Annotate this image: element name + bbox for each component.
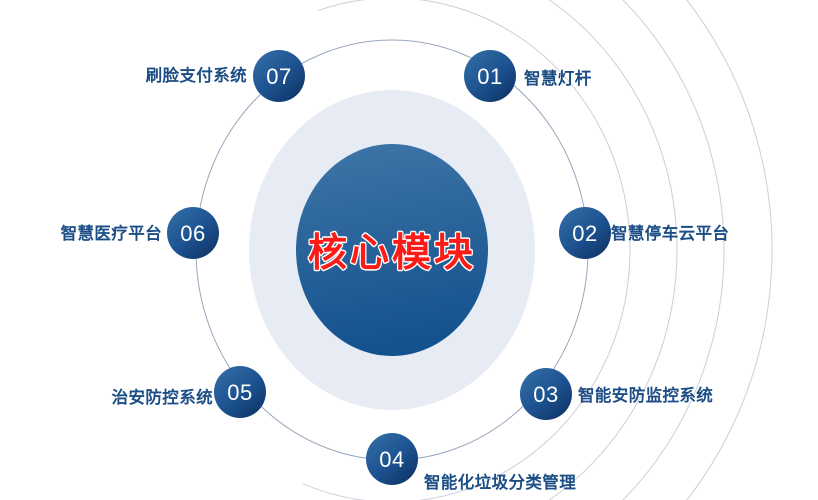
node-02[interactable]: 02 bbox=[559, 207, 611, 259]
node-label-02: 智慧停车云平台 bbox=[611, 226, 729, 243]
node-number-02: 02 bbox=[572, 221, 597, 246]
node-number-01: 01 bbox=[477, 64, 502, 89]
node-05[interactable]: 05 bbox=[214, 366, 266, 418]
node-number-06: 06 bbox=[180, 221, 205, 246]
node-03[interactable]: 03 bbox=[520, 368, 572, 420]
node-label-07: 刷脸支付系统 bbox=[146, 68, 247, 85]
node-04[interactable]: 04 bbox=[366, 433, 418, 485]
node-label-01: 智慧灯杆 bbox=[524, 71, 592, 88]
node-label-05: 治安防控系统 bbox=[112, 390, 213, 407]
node-01[interactable]: 01 bbox=[464, 50, 516, 102]
node-label-06: 智慧医疗平台 bbox=[61, 226, 162, 243]
node-label-03: 智能安防监控系统 bbox=[578, 388, 713, 405]
node-number-03: 03 bbox=[533, 382, 558, 407]
node-number-07: 07 bbox=[266, 64, 291, 89]
node-number-04: 04 bbox=[379, 447, 404, 472]
center-title: 核心模块 bbox=[308, 222, 476, 278]
node-07[interactable]: 07 bbox=[253, 50, 305, 102]
node-06[interactable]: 06 bbox=[167, 207, 219, 259]
diagram-canvas: 01020304050607 核心模块 智慧灯杆智慧停车云平台智能安防监控系统智… bbox=[0, 0, 818, 500]
node-number-05: 05 bbox=[227, 380, 252, 405]
node-label-04: 智能化垃圾分类管理 bbox=[424, 475, 576, 492]
